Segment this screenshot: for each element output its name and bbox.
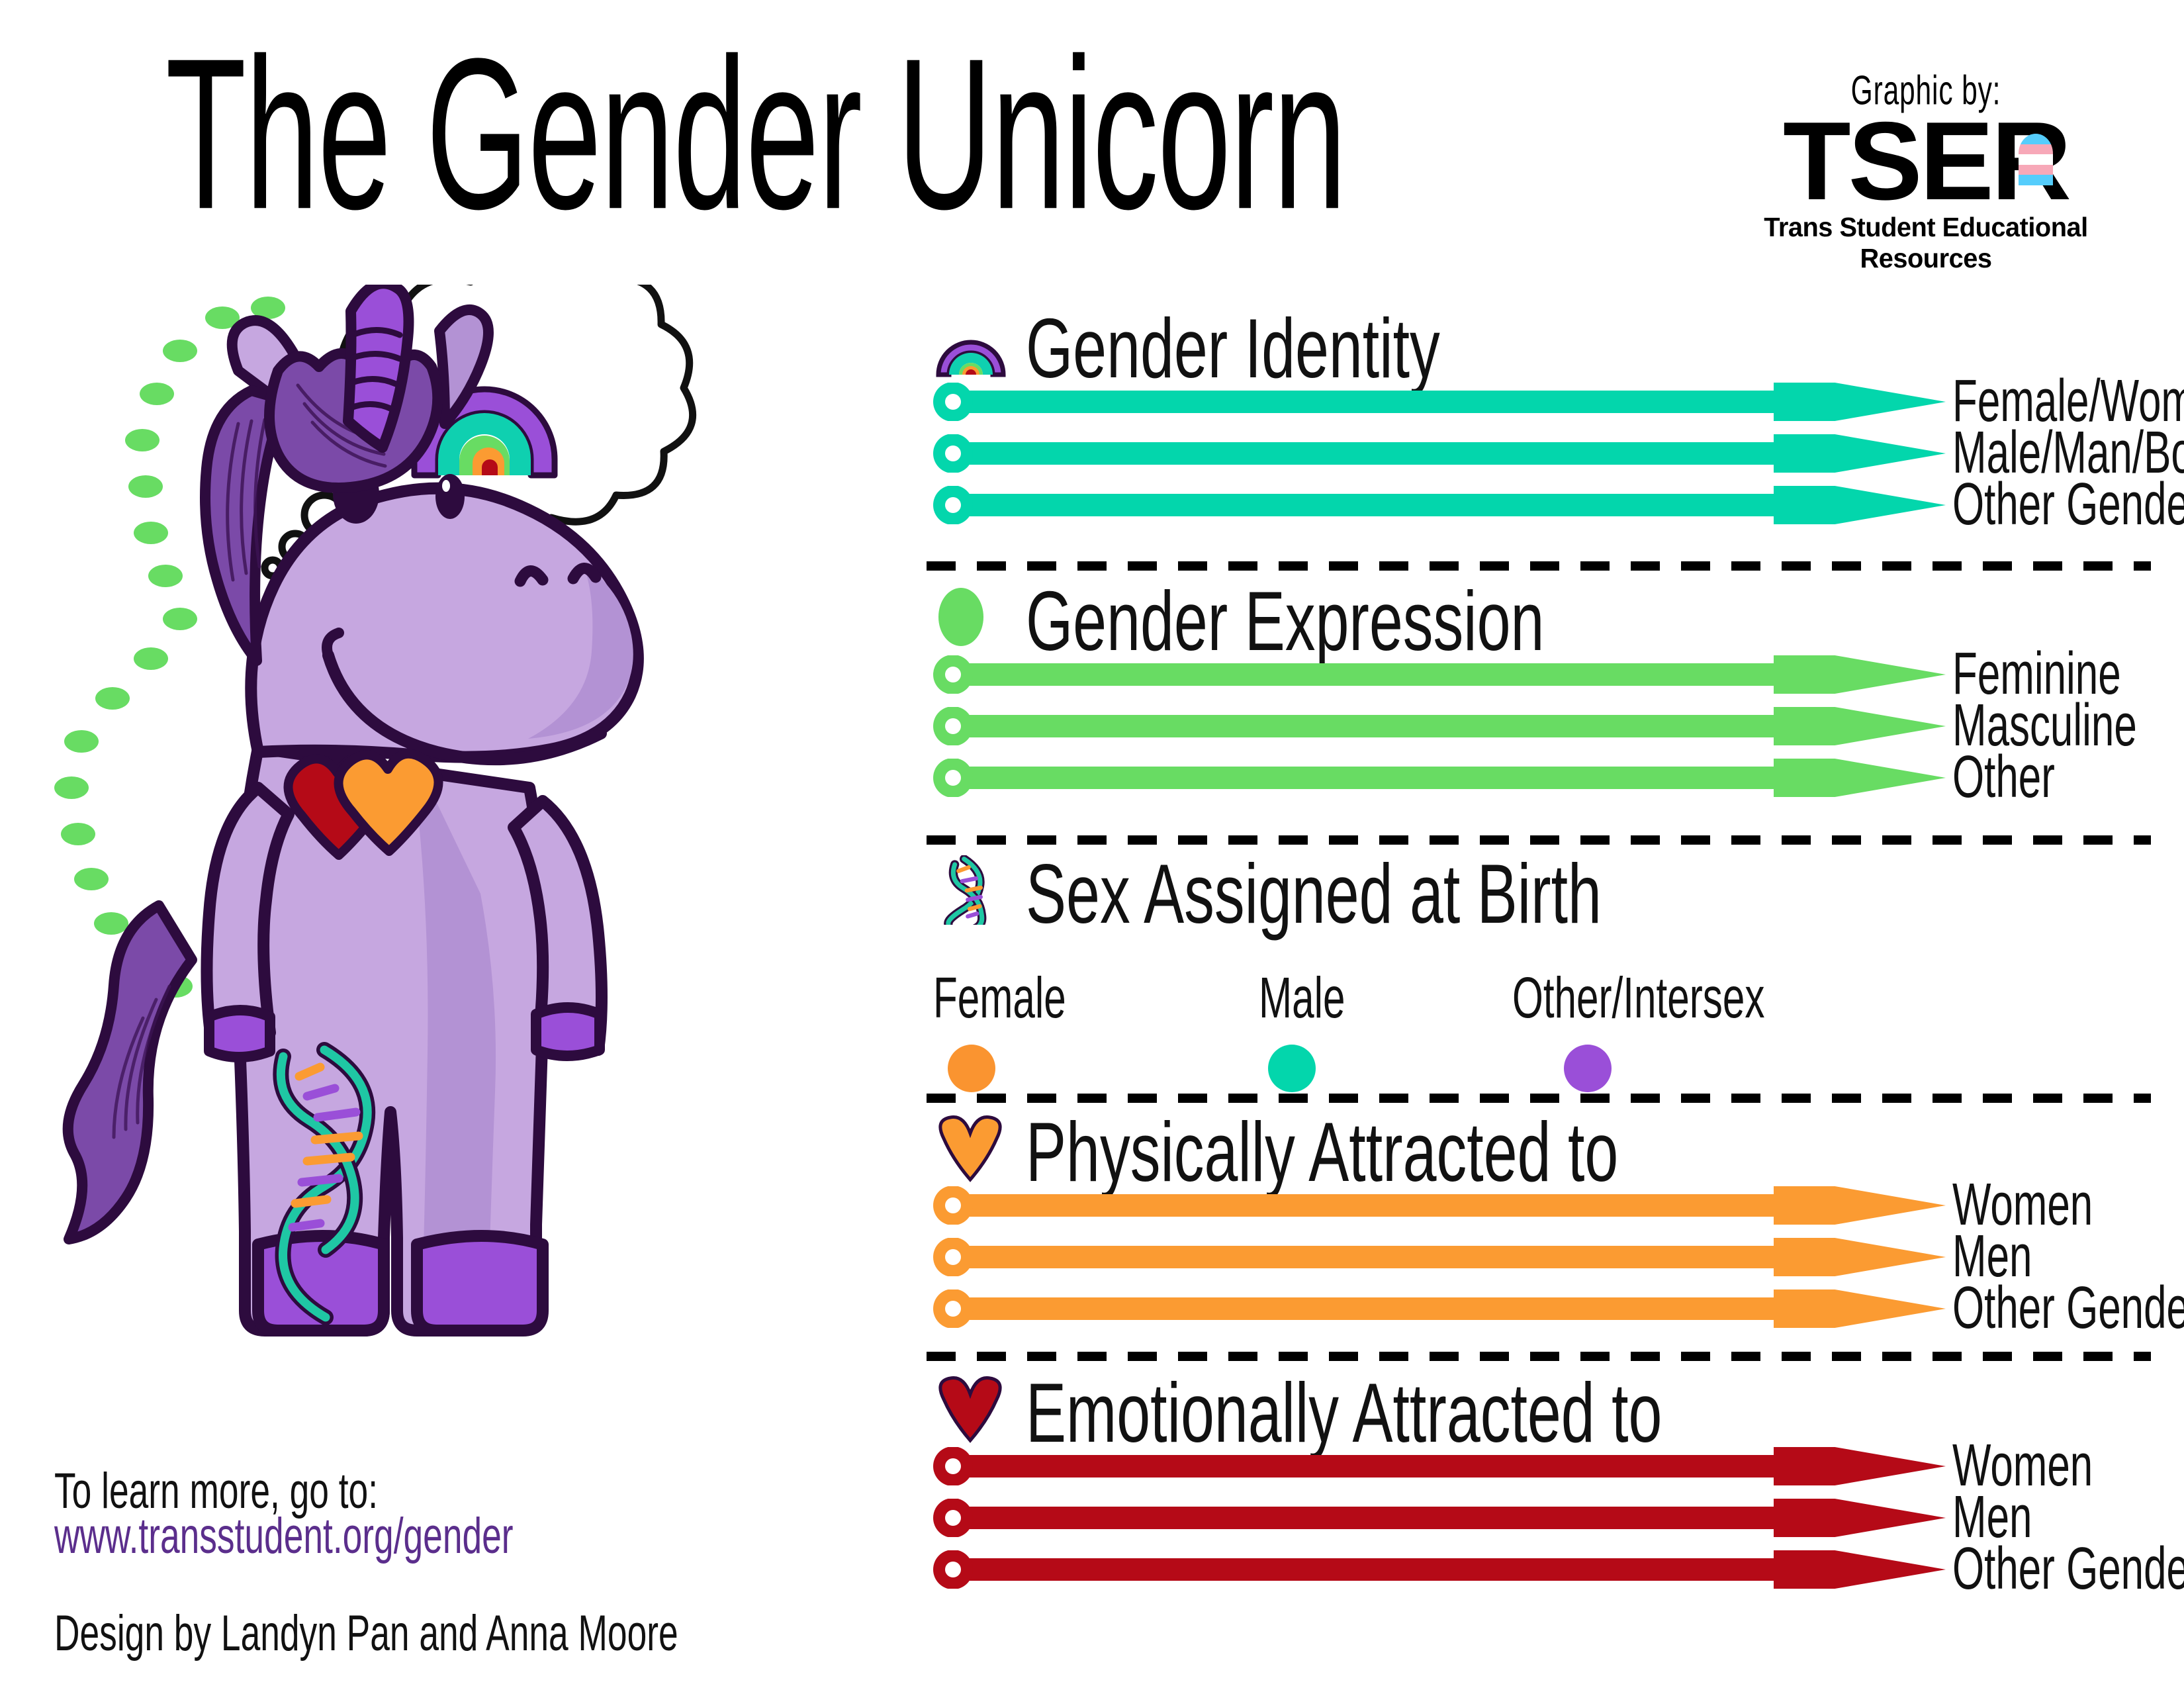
section-divider — [927, 1094, 2151, 1103]
spectrum-row[interactable]: Female/Woman/Girl — [933, 383, 2144, 421]
trans-flag-icon — [2019, 134, 2053, 185]
left-arm-cuff — [209, 1010, 270, 1057]
spectrum-label: Other Gender(s) — [1952, 1536, 2184, 1602]
arrow-list: Female/Woman/Girl Male/Man/Boy Other Gen… — [933, 383, 2144, 524]
section-divider — [927, 1352, 2151, 1361]
spectrum-row[interactable]: Women — [933, 1447, 2144, 1485]
unicorn-illustration — [40, 285, 913, 1423]
spectrum-row[interactable]: Feminine — [933, 655, 2144, 694]
sab-label: Male — [1259, 965, 1345, 1030]
orange-heart-icon — [933, 1113, 1009, 1183]
spectrum-label: Other — [1952, 744, 2055, 810]
spectrum-row[interactable]: Other Gender(s) — [933, 486, 2144, 524]
sab-option-female[interactable]: Female — [933, 965, 1087, 1092]
right-leg-cuff — [417, 1236, 543, 1331]
section-title: Emotionally Attracted to — [1026, 1369, 1662, 1458]
sab-option-other-intersex[interactable]: Other/Intersex — [1512, 965, 1806, 1092]
sab-dot — [948, 1045, 995, 1092]
sab-dot — [1268, 1045, 1316, 1092]
spectrum-row[interactable]: Men — [933, 1238, 2144, 1276]
arrow-list: Feminine Masculine Other — [933, 655, 2144, 797]
eye-right — [435, 474, 465, 519]
tser-logo: TSER — [1714, 111, 2138, 211]
spectrum-row[interactable]: Other Gender(s) — [933, 1289, 2144, 1328]
tser-credit-block: Graphic by: TSER Trans Student Education… — [1714, 66, 2138, 274]
section-emotionally-attracted-to: Emotionally Attracted to Women Men — [933, 1374, 2144, 1602]
section-title: Sex Assigned at Birth — [1026, 850, 1602, 939]
right-arm-cuff — [536, 1008, 600, 1056]
section-title: Gender Identity — [1026, 305, 1440, 393]
tser-full-name: Trans Student Educational Resources — [1721, 212, 2132, 274]
sab-label: Other/Intersex — [1512, 965, 1764, 1030]
spectrum-row[interactable]: Masculine — [933, 707, 2144, 745]
poster-canvas: The Gender Unicorn Graphic by: TSER Tran… — [0, 0, 2184, 1688]
green-circle-icon — [933, 583, 1009, 652]
website-link[interactable]: www.transstudent.org/gender — [54, 1501, 514, 1572]
dna-helix-icon — [933, 855, 1009, 925]
spectrum-row[interactable]: Male/Man/Boy — [933, 434, 2144, 473]
section-gender-expression: Gender Expression Feminine Masculine — [933, 583, 2144, 810]
arrow-list: Women Men Other Gender(s) — [933, 1447, 2144, 1589]
design-credit: Design by Landyn Pan and Anna Moore — [54, 1602, 678, 1667]
arrow-list: Women Men Other Gender(s) — [933, 1186, 2144, 1328]
section-sex-assigned-at-birth: Sex Assigned at Birth Female Male Other/… — [933, 855, 2144, 1117]
spectrum-row[interactable]: Women — [933, 1186, 2144, 1225]
section-divider — [927, 561, 2151, 571]
page-title: The Gender Unicorn — [165, 26, 1345, 242]
section-title: Physically Attracted to — [1026, 1108, 1618, 1197]
sab-option-male[interactable]: Male — [1259, 965, 1359, 1092]
rainbow-icon — [933, 310, 1009, 379]
section-title: Gender Expression — [1026, 577, 1544, 666]
spectrum-row[interactable]: Men — [933, 1499, 2144, 1537]
sab-dot — [1564, 1045, 1612, 1092]
sab-label: Female — [933, 965, 1066, 1030]
section-physically-attracted-to: Physically Attracted to Women Men — [933, 1113, 2144, 1341]
section-gender-identity: Gender Identity Female/Woman/Girl Male/M… — [933, 310, 2144, 538]
spectrum-label: Other Gender(s) — [1952, 471, 2184, 538]
spectrum-row[interactable]: Other Gender(s) — [933, 1550, 2144, 1589]
section-header: Sex Assigned at Birth — [933, 855, 2144, 928]
section-divider — [927, 835, 2151, 845]
spectrum-row[interactable]: Other — [933, 759, 2144, 797]
red-heart-icon — [933, 1374, 1009, 1444]
spectrum-label: Other Gender(s) — [1952, 1275, 2184, 1341]
